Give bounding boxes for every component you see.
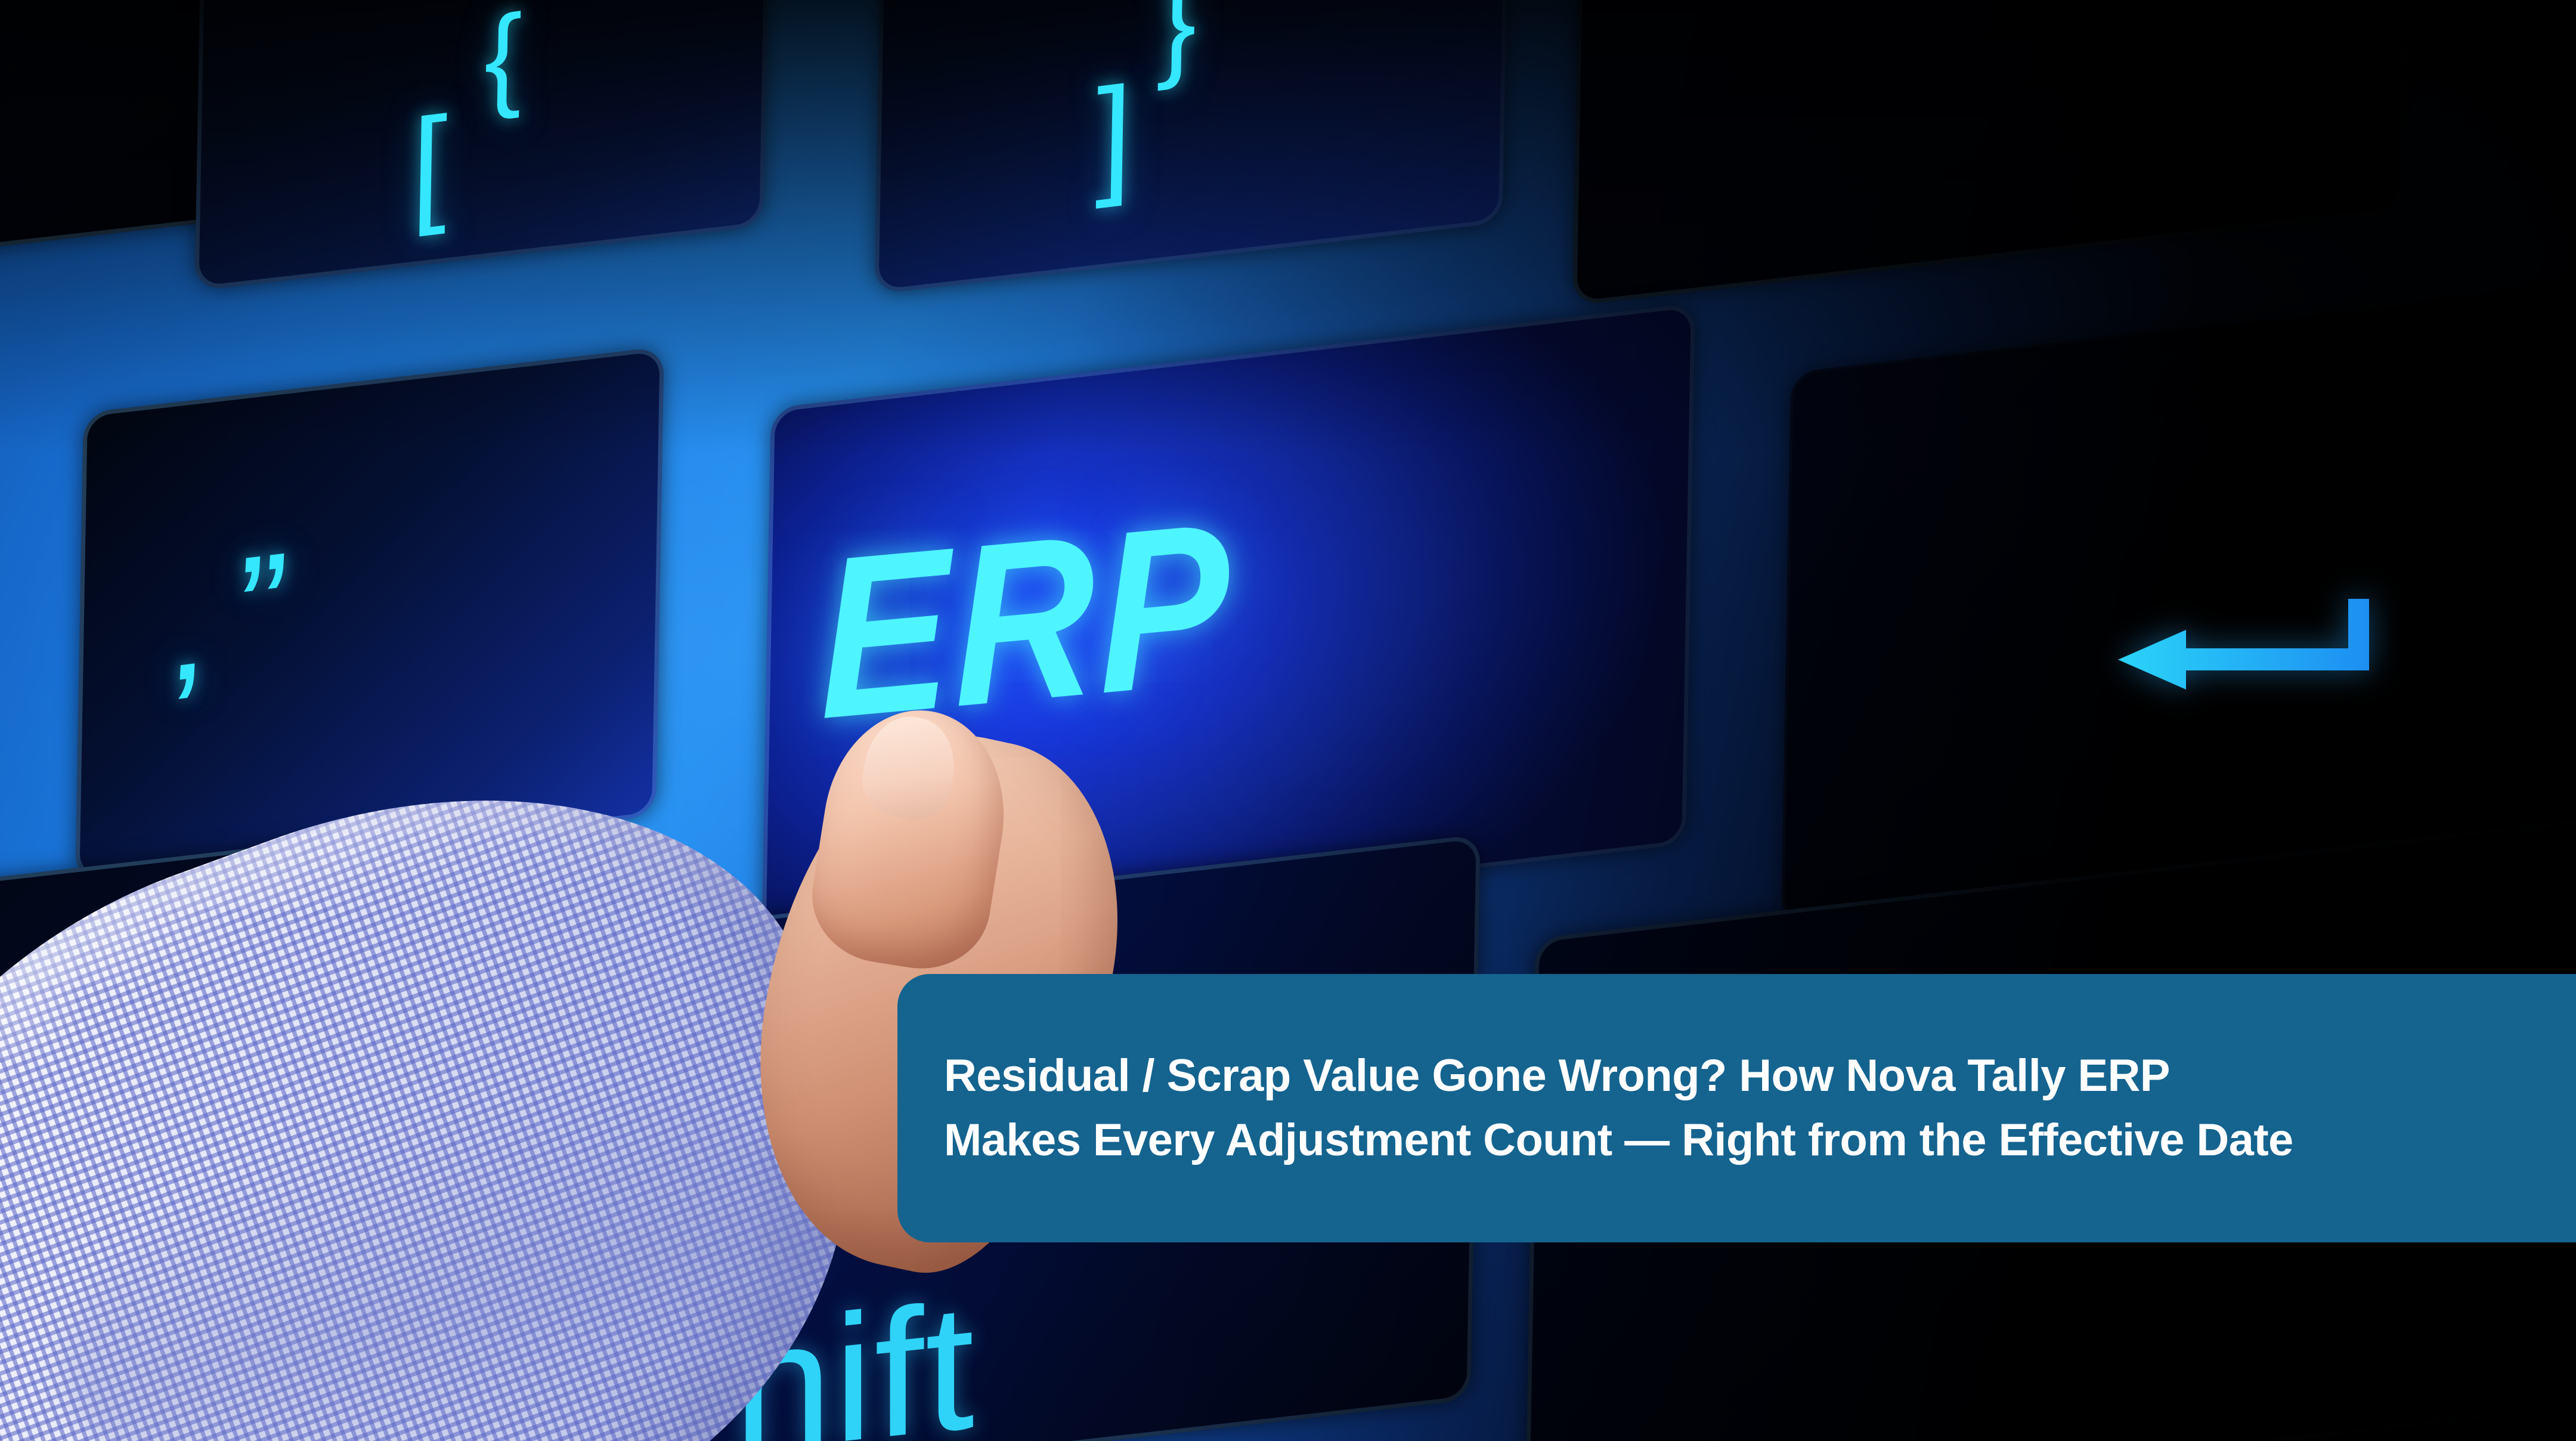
- banner-image: { [ } ] ” ’ ERP hift Residual / Scrap Va…: [0, 0, 2576, 1441]
- single-quote-icon: ’: [165, 646, 205, 786]
- curly-close-icon: }: [1156, 0, 1197, 79]
- bracket-open-icon: [: [411, 103, 448, 224]
- title-overlay-card: Residual / Scrap Value Gone Wrong? How N…: [897, 974, 2576, 1242]
- curly-open-icon: {: [484, 3, 523, 110]
- bracket-close-icon: ]: [1095, 73, 1133, 196]
- enter-return-arrow-icon: [2116, 599, 2372, 724]
- double-quote-icon: ”: [234, 536, 290, 678]
- title-line-2: Makes Every Adjustment Count — Right fro…: [944, 1108, 2539, 1173]
- title-line-1: Residual / Scrap Value Gone Wrong? How N…: [944, 1044, 2539, 1108]
- erp-key-label: ERP: [817, 487, 1236, 754]
